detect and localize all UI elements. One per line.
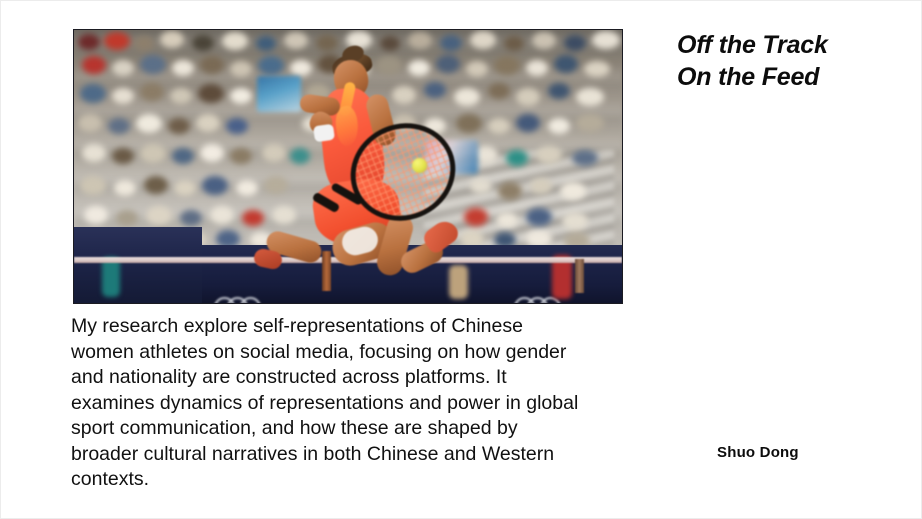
tennis-ball: [412, 158, 427, 173]
tennis-player: [74, 30, 622, 303]
presentation-slide: Off the Track On the Feed My research ex…: [0, 0, 922, 519]
research-description: My research explore self-representations…: [71, 314, 643, 493]
body-line: examines dynamics of representations and…: [71, 391, 643, 417]
body-line: My research explore self-representations…: [71, 314, 643, 340]
author-name: Shuo Dong: [717, 444, 799, 461]
body-line: sport communication, and how these are s…: [71, 416, 643, 442]
title-line-1: Off the Track: [677, 29, 907, 61]
title-line-2: On the Feed: [677, 61, 907, 93]
player-wristband: [313, 124, 335, 143]
body-line: and nationality are constructed across p…: [71, 365, 643, 391]
photo-canvas: [74, 30, 622, 303]
body-line: women athletes on social media, focusing…: [71, 340, 643, 366]
body-line: contexts.: [71, 467, 643, 493]
hero-photo: [73, 29, 623, 304]
body-line: broader cultural narratives in both Chin…: [71, 442, 643, 468]
slide-title: Off the Track On the Feed: [677, 29, 907, 93]
